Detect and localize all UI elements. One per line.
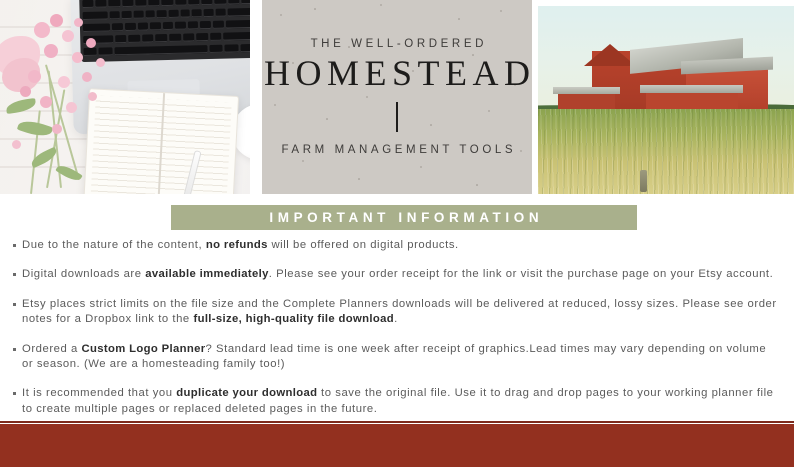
brand-eyebrow: THE WELL-ORDERED [307, 38, 487, 50]
bullet-text: It is recommended that you [22, 387, 176, 399]
bullet-text: Due to the nature of the content, [22, 239, 206, 251]
bullet-text: Etsy places strict limits on the file si… [22, 298, 777, 325]
brand-subline: FARM MANAGEMENT TOOLS [278, 144, 516, 156]
bullet-emphasis: full-size, high-quality file download [193, 313, 394, 325]
grass-texture [538, 109, 794, 194]
brand-wordmark: HOMESTEAD [262, 55, 532, 93]
banner-title: IMPORTANT INFORMATION [265, 210, 543, 225]
bullet-emphasis: Custom Logo Planner [82, 343, 206, 355]
bullet-text: . [394, 313, 398, 325]
barn-shed-roof [553, 87, 620, 95]
hero-photo-desk-flatlay [0, 0, 250, 194]
important-information-banner: IMPORTANT INFORMATION [171, 205, 637, 230]
information-bullet-list: Due to the nature of the content, no ref… [0, 238, 794, 431]
keyboard-icon [79, 0, 250, 62]
divider-tick [396, 102, 398, 132]
fence-post [640, 170, 647, 192]
bullet-text: . Please see your order receipt for the … [269, 268, 774, 280]
bullet-item-duplicate: It is recommended that you duplicate you… [0, 386, 794, 417]
bullet-item-downloads: Digital downloads are available immediat… [0, 267, 794, 282]
bullet-item-file-size: Etsy places strict limits on the file si… [0, 297, 794, 328]
barn-lean-to-roof [640, 85, 742, 93]
bullet-emphasis: no refunds [206, 239, 268, 251]
hero-title-card: THE WELL-ORDERED HOMESTEAD FARM MANAGEME… [262, 0, 532, 194]
bullet-emphasis: available immediately [145, 268, 269, 280]
hero-image-strip: THE WELL-ORDERED HOMESTEAD FARM MANAGEME… [0, 0, 794, 194]
footer-bar [0, 424, 794, 467]
footer-hairline [0, 421, 794, 423]
bullet-text: will be offered on digital products. [268, 239, 459, 251]
barn-gable-roof [584, 44, 636, 66]
bullet-item-custom-logo: Ordered a Custom Logo Planner? Standard … [0, 342, 794, 373]
hero-photo-red-barn [538, 0, 794, 194]
bullet-item-refunds: Due to the nature of the content, no ref… [0, 238, 794, 253]
bullet-text: Digital downloads are [22, 268, 145, 280]
open-notebook [83, 88, 239, 194]
bullet-emphasis: duplicate your download [176, 387, 317, 399]
bullet-text: Ordered a [22, 343, 82, 355]
